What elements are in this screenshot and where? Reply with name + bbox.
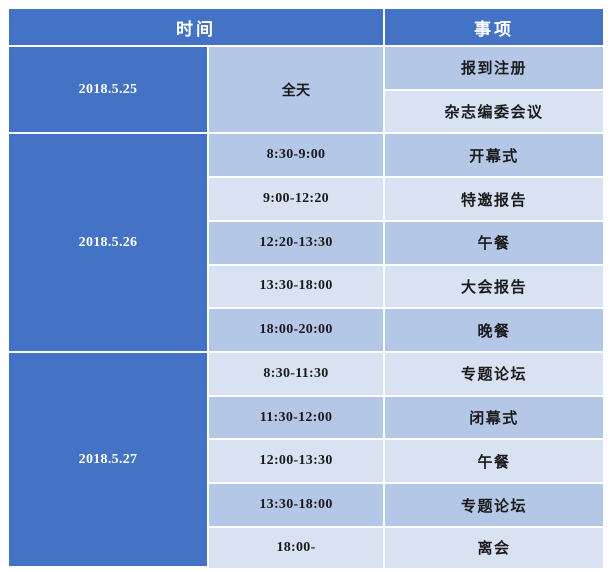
table-row: 2018.5.25全天报到注册 [9,47,605,91]
time-cell: 9:00-12:20 [209,178,385,222]
item-cell: 专题论坛 [385,353,605,397]
time-cell: 18:00-20:00 [209,309,385,353]
item-cell: 开幕式 [385,134,605,178]
time-cell: 全天 [209,47,385,134]
table-row: 2018.5.278:30-11:30专题论坛 [9,353,605,397]
time-cell: 18:00- [209,528,385,568]
header-row: 时间 事项 [9,9,605,47]
time-cell: 8:30-11:30 [209,353,385,397]
time-cell: 12:20-13:30 [209,222,385,266]
time-cell: 13:30-18:00 [209,266,385,310]
header-time: 时间 [9,9,385,47]
item-cell: 午餐 [385,222,605,266]
time-cell: 8:30-9:00 [209,134,385,178]
table-row: 2018.5.268:30-9:00开幕式 [9,134,605,178]
item-cell: 大会报告 [385,266,605,310]
item-cell: 午餐 [385,440,605,484]
item-cell: 特邀报告 [385,178,605,222]
item-cell: 闭幕式 [385,397,605,441]
date-cell: 2018.5.26 [9,134,209,353]
time-cell: 13:30-18:00 [209,484,385,528]
item-cell: 晚餐 [385,309,605,353]
time-cell: 12:00-13:30 [209,440,385,484]
time-cell: 11:30-12:00 [209,397,385,441]
date-cell: 2018.5.25 [9,47,209,134]
date-cell: 2018.5.27 [9,353,209,568]
conference-schedule-table: 时间 事项 2018.5.25全天报到注册杂志编委会议2018.5.268:30… [9,9,605,568]
schedule-container: 时间 事项 2018.5.25全天报到注册杂志编委会议2018.5.268:30… [9,9,605,568]
table-body: 2018.5.25全天报到注册杂志编委会议2018.5.268:30-9:00开… [9,47,605,568]
header-item: 事项 [385,9,605,47]
item-cell: 专题论坛 [385,484,605,528]
item-cell: 杂志编委会议 [385,91,605,135]
item-cell: 报到注册 [385,47,605,91]
item-cell: 离会 [385,528,605,568]
table-header: 时间 事项 [9,9,605,47]
